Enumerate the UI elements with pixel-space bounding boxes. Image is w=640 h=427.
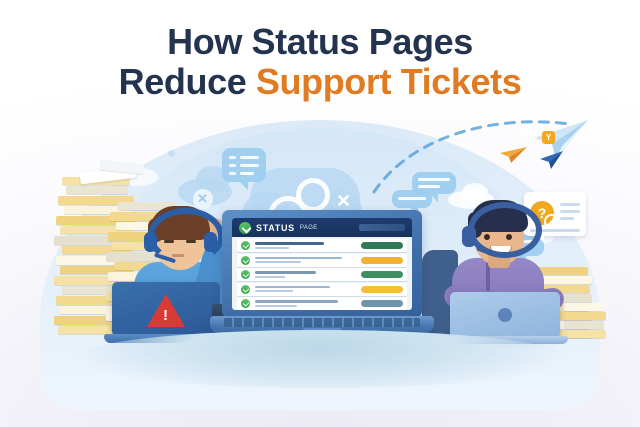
- status-row-labels: [255, 286, 356, 293]
- check-circle-icon: [241, 299, 250, 308]
- headset-earcup: [462, 226, 476, 247]
- status-row-labels: [255, 300, 356, 307]
- status-row-labels: [255, 257, 356, 264]
- x-mark-icon: ✕: [336, 192, 351, 210]
- status-page-screen[interactable]: STATUS PAGE: [232, 218, 412, 310]
- right-laptop-screen: [450, 292, 560, 338]
- status-page-heading: STATUS: [256, 223, 295, 233]
- status-row[interactable]: [237, 283, 407, 296]
- paper-plane-small-icon: [498, 146, 528, 164]
- check-circle-icon: [241, 270, 250, 279]
- status-badge: [361, 242, 403, 249]
- center-laptop: STATUS PAGE: [222, 210, 422, 340]
- status-badge: [361, 257, 403, 264]
- status-badge: [361, 286, 403, 293]
- check-circle-icon: [241, 285, 250, 294]
- happy-agent: [430, 192, 570, 344]
- check-circle-icon: [241, 256, 250, 265]
- paper-plane-dark-icon: [538, 150, 564, 170]
- laptop-keyboard: [224, 318, 420, 327]
- status-row[interactable]: [237, 268, 407, 281]
- laptop-lid: STATUS PAGE: [222, 210, 422, 318]
- headset-earcup: [144, 232, 157, 252]
- status-badge: [361, 271, 403, 278]
- status-badge: [361, 300, 403, 307]
- title-line-1: How Status Pages: [0, 22, 640, 62]
- left-laptop-screen: !: [112, 282, 220, 336]
- status-row[interactable]: [237, 254, 407, 267]
- status-page-meta: [359, 224, 405, 231]
- status-row-list: [232, 237, 412, 310]
- headset-earcup: [204, 232, 217, 252]
- status-row-labels: [255, 242, 356, 249]
- plane-badge: Y: [542, 131, 555, 144]
- title-line-2-highlight: Support Tickets: [256, 61, 521, 102]
- illustration-canvas: ✕ ✕ Y: [0, 0, 640, 427]
- laptop-logo: [498, 308, 512, 322]
- status-row[interactable]: [237, 239, 407, 252]
- title-line-2-prefix: Reduce: [119, 61, 256, 102]
- desk-shadow: [70, 330, 570, 388]
- check-circle-icon: [241, 241, 250, 250]
- status-row-labels: [255, 271, 356, 278]
- page-title: How Status Pages Reduce Support Tickets: [0, 22, 640, 103]
- status-row[interactable]: [237, 297, 407, 310]
- title-line-2: Reduce Support Tickets: [0, 62, 640, 102]
- chat-bubble: [222, 148, 266, 182]
- download-circle-icon: [239, 222, 251, 234]
- warning-symbol: !: [163, 308, 168, 323]
- status-page-header: STATUS PAGE: [232, 218, 412, 237]
- status-page-subheading: PAGE: [300, 225, 318, 231]
